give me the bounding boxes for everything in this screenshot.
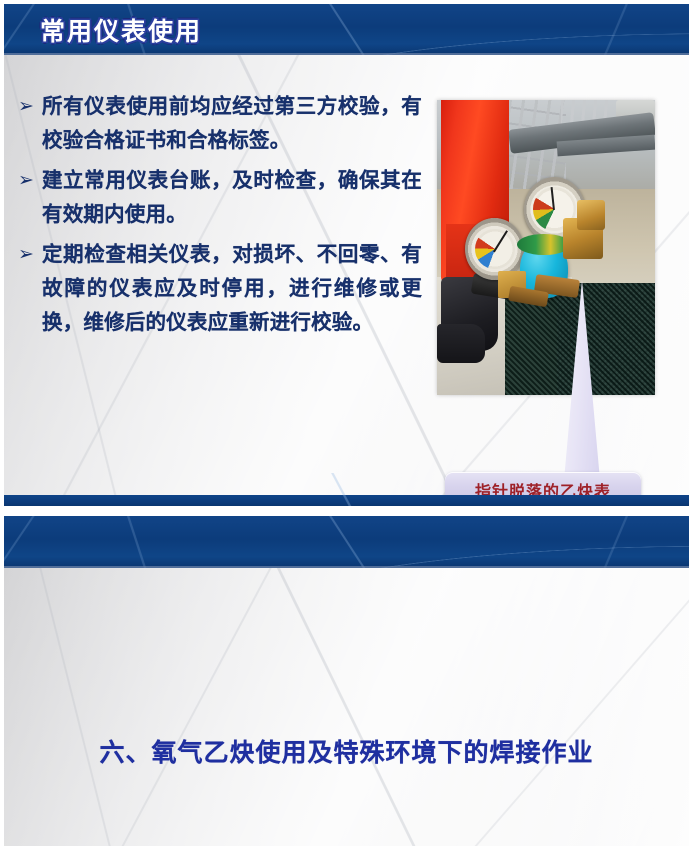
footer-line-pattern bbox=[4, 473, 689, 506]
bullet-arrow-icon: ➢ bbox=[18, 89, 42, 123]
bullet-text: 所有仪表使用前均应经过第三方校验，有校验合格证书和合格标签。 bbox=[42, 89, 422, 157]
photo-brass-fitting-2 bbox=[577, 200, 605, 230]
bullet-arrow-icon: ➢ bbox=[18, 163, 42, 197]
slide-section-divider: 六、氧气乙炔使用及特殊环境下的焊接作业 bbox=[4, 516, 689, 846]
slide2-background-texture bbox=[4, 568, 689, 846]
photo-safety-boot-2 bbox=[437, 324, 485, 362]
section-title: 六、氧气乙炔使用及特殊环境下的焊接作业 bbox=[4, 733, 689, 769]
bullet-arrow-icon: ➢ bbox=[18, 237, 42, 271]
slide2-header-band bbox=[4, 516, 689, 568]
photo-mesh-fabric-2 bbox=[505, 295, 557, 395]
slide1-body: ➢ 所有仪表使用前均应经过第三方校验，有校验合格证书和合格标签。 ➢ 建立常用仪… bbox=[4, 55, 689, 495]
list-item: ➢ 定期检查相关仪表，对损坏、不回零、有故障的仪表应及时停用，进行维修或更换，维… bbox=[18, 237, 422, 339]
slide-instrument-usage: 常用仪表使用 ➢ 所有仪表使用前均应经过第三方校验，有校验合格证书和合格标签。 … bbox=[4, 4, 689, 506]
list-item: ➢ 所有仪表使用前均应经过第三方校验，有校验合格证书和合格标签。 bbox=[18, 89, 422, 157]
slide2-body: 六、氧气乙炔使用及特殊环境下的焊接作业 bbox=[4, 568, 689, 846]
header-line-pattern bbox=[4, 516, 689, 568]
slide1-title: 常用仪表使用 bbox=[40, 12, 202, 48]
slide1-footer-band bbox=[4, 495, 689, 506]
list-item: ➢ 建立常用仪表台账，及时检查，确保其在有效期内使用。 bbox=[18, 163, 422, 231]
acetylene-gauge-photo bbox=[437, 100, 655, 395]
header-arc-pattern bbox=[4, 516, 689, 568]
slide1-header-band: 常用仪表使用 bbox=[4, 4, 689, 55]
bullet-text: 建立常用仪表台账，及时检查，确保其在有效期内使用。 bbox=[42, 163, 422, 231]
bullet-list: ➢ 所有仪表使用前均应经过第三方校验，有校验合格证书和合格标签。 ➢ 建立常用仪… bbox=[18, 89, 422, 345]
bullet-text: 定期检查相关仪表，对损坏、不回零、有故障的仪表应及时停用，进行维修或更换，维修后… bbox=[42, 237, 422, 339]
